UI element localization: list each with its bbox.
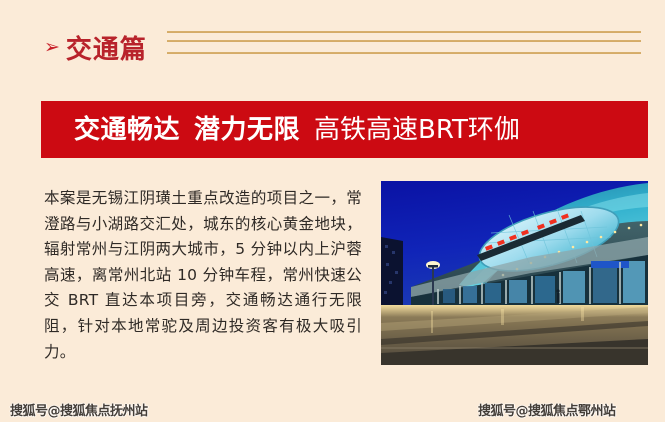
section-title: 交通篇 [66,29,147,66]
watermark-right: 搜狐号@搜狐焦点鄂州站 [478,400,616,419]
banner-phrase-2: 潜力无限 [194,117,300,143]
banner-phrase-1: 交通畅达 [74,117,180,143]
watermark-left: 搜狐号@搜狐焦点抚州站 [10,400,148,419]
banner-phrase-3: 高铁高速BRT环伽 [314,117,520,143]
divider-line-2 [167,40,641,42]
promo-slide: { "theme": { "background": "#fbebd8", "h… [0,0,665,422]
arrow-right-icon: ➢ [44,38,60,57]
headline-banner: 交通畅达 潜力无限 高铁高速BRT环伽 [41,101,648,158]
gold-divider-lines [167,31,641,57]
railway-station-night-photo [381,181,648,365]
body-paragraph: 本案是无锡江阴璜土重点改造的项目之一，常澄路与小湖路交汇处，城东的核心黄金地块，… [44,186,362,365]
divider-line-1 [167,31,641,33]
section-heading: ➢ 交通篇 [44,27,147,67]
divider-line-3 [167,52,641,54]
